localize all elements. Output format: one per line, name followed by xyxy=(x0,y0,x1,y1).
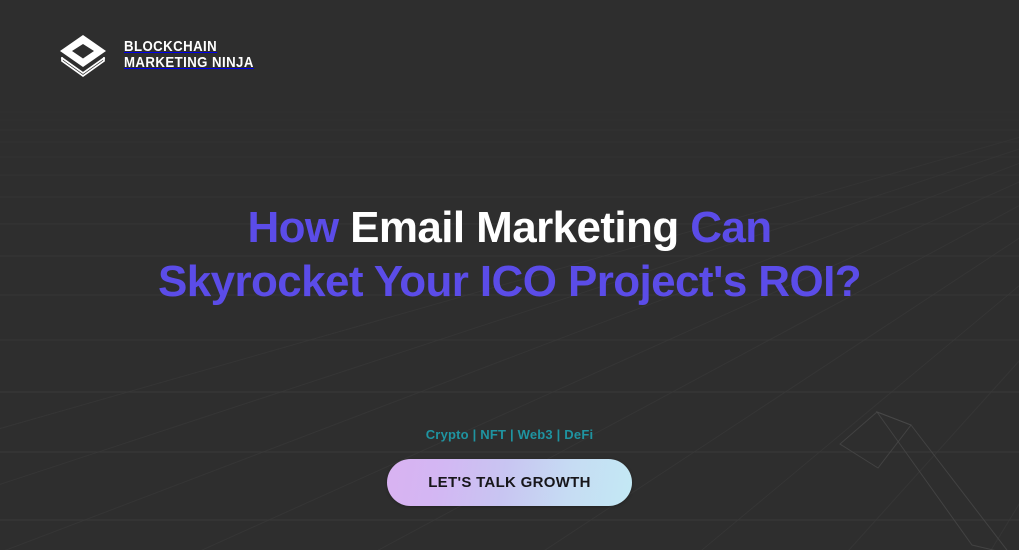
headline-line-1: How Email Marketing Can xyxy=(247,203,771,252)
hero-tagline: Crypto | NFT | Web3 | DeFi xyxy=(0,427,1019,442)
lets-talk-growth-button[interactable]: LET'S TALK GROWTH xyxy=(387,459,632,506)
logo-line-1: BLOCKCHAIN xyxy=(124,39,254,55)
headline-line-2: Skyrocket Your ICO Project's ROI? xyxy=(158,257,861,306)
logo-wordmark: BLOCKCHAIN MARKETING NINJA xyxy=(124,39,272,71)
hero-page: BLOCKCHAIN MARKETING NINJA How Email Mar… xyxy=(0,0,1019,550)
headline-word-can: Can xyxy=(690,203,771,252)
cta-container: LET'S TALK GROWTH xyxy=(0,459,1019,506)
logo-line-2: MARKETING NINJA xyxy=(124,55,254,71)
page-title: How Email Marketing Can Skyrocket Your I… xyxy=(0,201,1019,309)
layered-diamond-logo-icon xyxy=(57,29,109,81)
site-header: BLOCKCHAIN MARKETING NINJA xyxy=(0,0,1019,110)
logo-link[interactable]: BLOCKCHAIN MARKETING NINJA xyxy=(57,29,272,81)
headline-word-how: How xyxy=(247,203,338,252)
headline-phrase-email-marketing: Email Marketing xyxy=(350,203,678,252)
